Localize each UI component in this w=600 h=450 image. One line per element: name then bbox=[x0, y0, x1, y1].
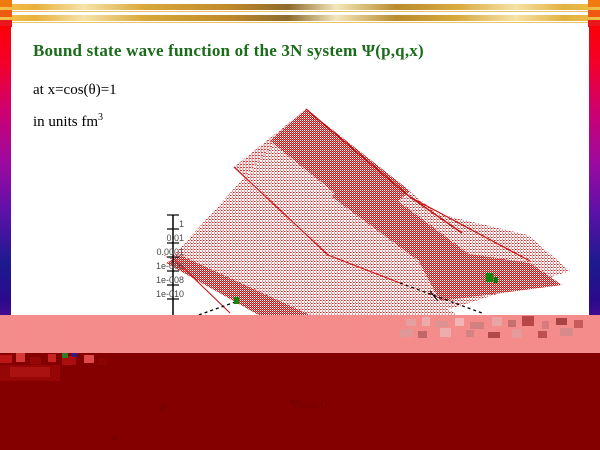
gold-divider-line-2 bbox=[0, 22, 600, 23]
salmon-band-noise-right bbox=[400, 315, 600, 345]
maroon-lower-region: p q Ψ(p,q,x) bbox=[0, 353, 600, 450]
origin-marker-left bbox=[234, 297, 239, 304]
top-decoration-band bbox=[0, 0, 600, 26]
maroon-noise-left bbox=[0, 353, 130, 393]
origin-marker-right bbox=[486, 273, 493, 282]
units-exponent: 3 bbox=[98, 112, 103, 123]
slide-subtitle-condition: at x=cos(θ)=1 bbox=[33, 82, 117, 99]
corner-square-top-left-1 bbox=[0, 0, 12, 7]
gold-bar-top bbox=[0, 4, 600, 10]
z-tick-label-5: 1e-008 bbox=[122, 273, 184, 287]
ghost-x-axis-label: p bbox=[160, 400, 166, 412]
corner-square-top-right-2 bbox=[588, 10, 600, 17]
left-gradient-strip bbox=[0, 26, 11, 338]
ghost-y-axis-label: q bbox=[112, 431, 118, 443]
z-axis-tick-labels: 1 0.01 0.0001 1e-006 1e-008 1e-010 bbox=[122, 217, 184, 301]
z-tick-label-6: 1e-010 bbox=[122, 287, 184, 301]
z-tick-label-2: 0.01 bbox=[122, 231, 184, 245]
gold-bar-bottom bbox=[0, 15, 600, 21]
z-tick-label-3: 0.0001 bbox=[122, 245, 184, 259]
corner-square-top-right-1 bbox=[588, 0, 600, 7]
presentation-slide: Bound state wave function of the 3N syst… bbox=[0, 0, 600, 450]
slide-title: Bound state wave function of the 3N syst… bbox=[33, 41, 424, 61]
slide-subtitle-units: in units fm3 bbox=[33, 112, 103, 131]
right-gradient-strip bbox=[589, 26, 600, 338]
units-text: in units fm bbox=[33, 114, 98, 130]
wavefunction-3d-plot: 1 0.01 0.0001 1e-006 1e-008 1e-010 bbox=[110, 105, 580, 330]
gold-divider-line-1 bbox=[0, 11, 600, 12]
z-tick-label-4: 1e-006 bbox=[122, 259, 184, 273]
z-tick-label-1: 1 bbox=[122, 217, 184, 231]
ghost-z-axis-label: Ψ(p,q,x) bbox=[290, 398, 327, 410]
origin-marker-right-2 bbox=[494, 277, 498, 283]
corner-square-top-left-2 bbox=[0, 10, 12, 17]
